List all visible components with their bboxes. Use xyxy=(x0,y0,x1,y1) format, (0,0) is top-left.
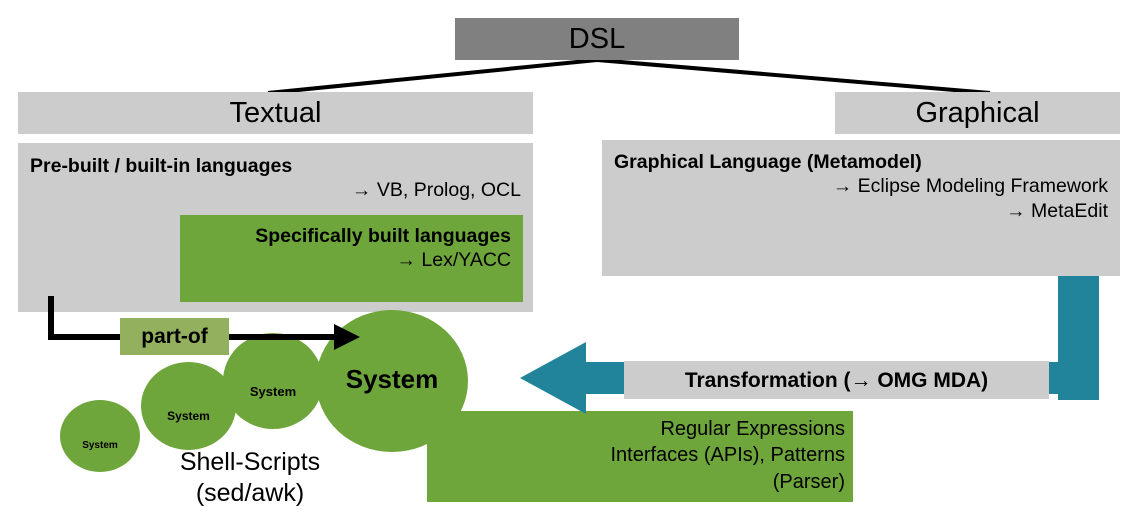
graphical-panel-title: Graphical Language (Metamodel) xyxy=(614,150,1108,174)
branch-header-graphical-label: Graphical xyxy=(915,99,1039,128)
textual-panel-text: Pre-built / built-in languages → VB, Pro… xyxy=(30,154,521,203)
connector-line-textual xyxy=(268,60,597,93)
specifically-built-example: → Lex/YACC xyxy=(190,248,511,272)
shell-scripts-caption: Shell-Scripts (sed/awk) xyxy=(120,447,380,508)
system-circle-label-3: System xyxy=(250,385,296,398)
transformation-label-box: Transformation (→ OMG MDA) xyxy=(624,361,1049,399)
textual-panel-example: → VB, Prolog, OCL xyxy=(30,178,521,202)
specifically-built-title: Specifically built languages xyxy=(190,224,511,248)
branch-header-textual: Textual xyxy=(18,92,533,134)
graphical-panel-example-2: → MetaEdit xyxy=(614,199,1108,223)
transformation-label: Transformation (→ OMG MDA) xyxy=(685,370,988,391)
implementation-line-2: Interfaces (APIs), Patterns xyxy=(427,442,845,468)
branch-header-textual-label: Textual xyxy=(230,99,322,128)
part-of-label: part-of xyxy=(141,326,208,347)
dsl-root-box: DSL xyxy=(455,18,739,60)
specifically-built-text: Specifically built languages → Lex/YACC xyxy=(190,224,511,273)
system-circle-label-1: System xyxy=(82,441,118,451)
system-circle-medium-small: System xyxy=(141,362,236,450)
implementation-line-1: Regular Expressions xyxy=(427,416,845,442)
implementation-artifacts-text: Regular Expressions Interfaces (APIs), P… xyxy=(427,416,845,495)
implementation-line-3: (Parser) xyxy=(427,469,845,495)
shell-scripts-line-2: (sed/awk) xyxy=(120,478,380,509)
graphical-panel-text: Graphical Language (Metamodel) → Eclipse… xyxy=(614,150,1108,223)
system-circle-label-4: System xyxy=(346,366,439,392)
branch-header-graphical: Graphical xyxy=(835,92,1120,134)
system-circle-medium: System xyxy=(223,333,323,429)
graphical-panel-example-1: → Eclipse Modeling Framework xyxy=(614,174,1108,198)
part-of-label-box: part-of xyxy=(120,318,229,355)
textual-panel-title: Pre-built / built-in languages xyxy=(30,154,521,178)
system-circle-large: System xyxy=(316,310,468,452)
graphical-language-panel: Graphical Language (Metamodel) → Eclipse… xyxy=(602,140,1120,276)
diagram-canvas: DSL Textual Graphical Pre-built / built-… xyxy=(0,0,1134,513)
dsl-root-label: DSL xyxy=(569,25,625,54)
specifically-built-languages-box: Specifically built languages → Lex/YACC xyxy=(180,215,523,302)
shell-scripts-line-1: Shell-Scripts xyxy=(120,447,380,478)
connector-line-graphical xyxy=(597,60,990,93)
system-circle-label-2: System xyxy=(167,410,210,422)
implementation-artifacts-box: Regular Expressions Interfaces (APIs), P… xyxy=(427,411,853,502)
